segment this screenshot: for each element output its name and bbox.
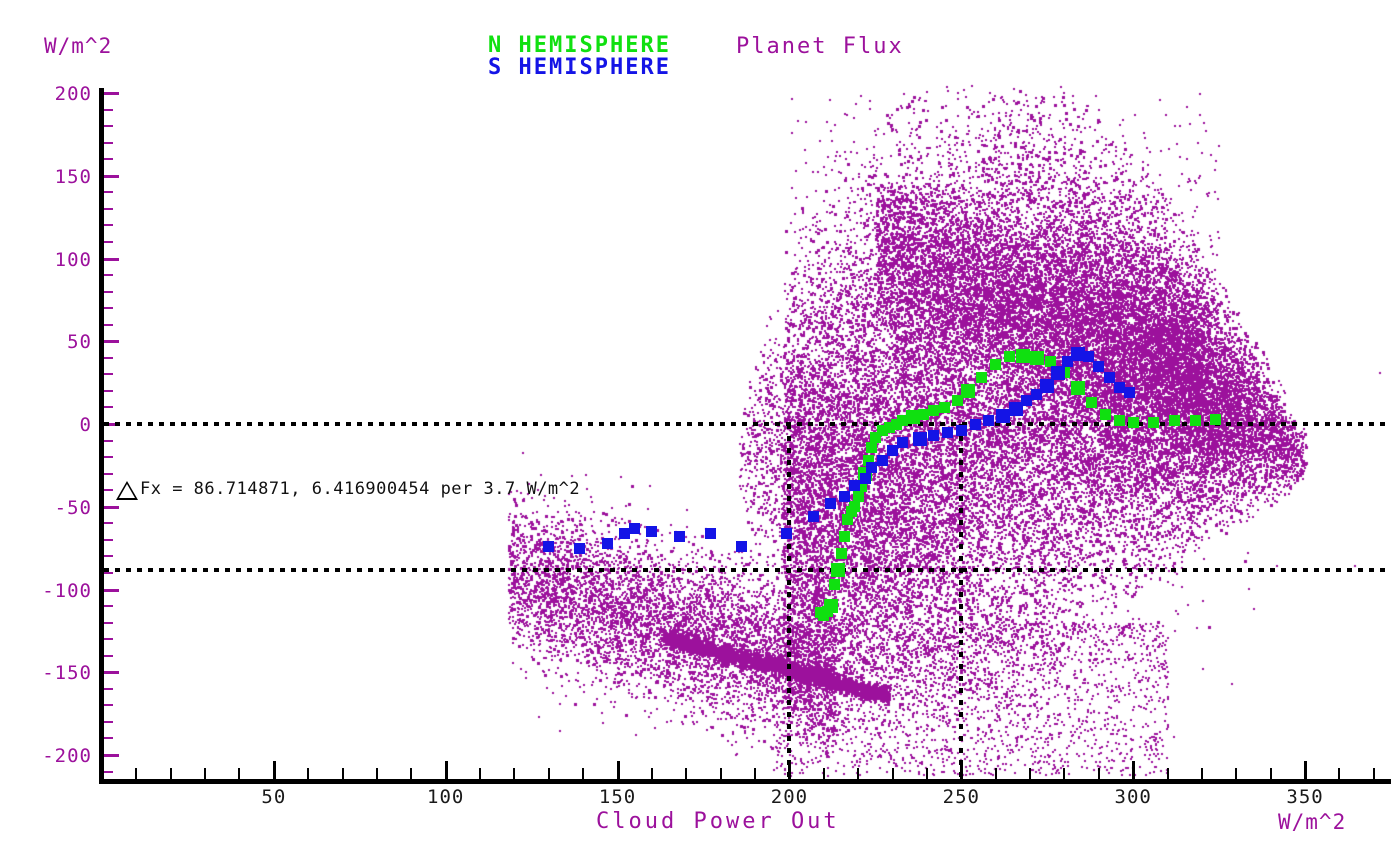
x-tick (1201, 768, 1203, 779)
x-tick (1270, 768, 1272, 779)
data-point-n-hemisphere (831, 563, 845, 577)
x-tick (685, 768, 687, 779)
y-tick (104, 638, 113, 640)
data-point-n-hemisphere (1071, 381, 1085, 395)
data-point-s-hemisphere (674, 531, 685, 542)
plot-canvas: 200150100500-50-100-150-200 501001502002… (0, 0, 1400, 863)
x-tick (548, 768, 550, 779)
x-tick-label: 350 (1265, 786, 1345, 808)
x-tick (479, 768, 481, 779)
data-point-n-hemisphere (866, 442, 877, 453)
page-title: Planet Flux (736, 36, 904, 58)
x-tick (1338, 768, 1340, 779)
y-tick (104, 622, 113, 624)
data-point-n-hemisphere (824, 599, 838, 613)
y-tick-label: 200 (0, 83, 92, 105)
flux-annotation-text: Fx = 86.714871, 6.416900454 per 3.7 W/m^… (140, 481, 580, 498)
y-tick (104, 109, 113, 111)
y-tick (104, 771, 113, 773)
x-tick (273, 761, 276, 779)
y-tick (104, 589, 119, 592)
data-point-n-hemisphere (849, 501, 860, 512)
y-tick (104, 456, 113, 458)
data-point-s-hemisphere (736, 541, 747, 552)
y-tick (104, 390, 113, 392)
legend-s-hemisphere: S HEMISPHERE (488, 57, 671, 79)
y-tick (104, 406, 113, 408)
scatter-point-cloud (0, 0, 1400, 863)
x-tick (101, 768, 103, 779)
y-tick-label: 50 (0, 331, 92, 353)
data-point-s-hemisphere (543, 541, 554, 552)
x-tick (1373, 768, 1375, 779)
data-point-n-hemisphere (1004, 351, 1015, 362)
y-tick (104, 357, 113, 359)
x-tick (1098, 768, 1100, 779)
y-tick (104, 572, 113, 574)
data-point-s-hemisphere (1051, 366, 1065, 380)
data-point-n-hemisphere (1100, 409, 1111, 420)
x-tick-label: 300 (1093, 786, 1173, 808)
y-tick (104, 754, 119, 757)
data-point-n-hemisphere (829, 579, 840, 590)
x-axis-unit-label: W/m^2 (1278, 812, 1346, 833)
data-point-s-hemisphere (646, 526, 657, 537)
x-tick (170, 768, 172, 779)
x-tick (720, 768, 722, 779)
x-tick (857, 768, 859, 779)
data-point-s-hemisphere (956, 425, 967, 436)
x-tick-label: 100 (406, 786, 486, 808)
x-axis-title: Cloud Power Out (596, 811, 840, 833)
y-tick (104, 175, 119, 178)
y-tick (104, 191, 113, 193)
vertical-reference-line (959, 424, 963, 779)
legend-n-hemisphere: N HEMISPHERE (488, 35, 671, 57)
y-tick-label: -100 (0, 580, 92, 602)
data-point-n-hemisphere (1148, 417, 1159, 428)
x-tick (513, 768, 515, 779)
y-tick-label: -200 (0, 745, 92, 767)
y-tick (104, 241, 113, 243)
y-tick (104, 688, 113, 690)
x-tick (1063, 768, 1065, 779)
data-point-s-hemisphere (808, 511, 819, 522)
y-tick (104, 440, 113, 442)
y-tick-label: 0 (0, 414, 92, 436)
x-tick (582, 768, 584, 779)
data-point-s-hemisphere (1040, 379, 1054, 393)
x-tick (1029, 768, 1031, 779)
x-tick (307, 768, 309, 779)
vertical-reference-line (787, 424, 791, 779)
data-point-n-hemisphere (1169, 415, 1180, 426)
x-tick-label: 50 (234, 786, 314, 808)
data-point-n-hemisphere (961, 384, 975, 398)
data-point-s-hemisphere (781, 528, 792, 539)
y-tick (104, 506, 119, 509)
y-tick (104, 671, 119, 674)
data-point-s-hemisphere (574, 543, 585, 554)
data-point-s-hemisphere (983, 415, 994, 426)
data-point-n-hemisphere (1030, 351, 1044, 365)
data-point-s-hemisphere (928, 430, 939, 441)
y-tick (104, 605, 113, 607)
data-point-n-hemisphere (1114, 415, 1125, 426)
y-tick (104, 307, 113, 309)
data-point-s-hemisphere (897, 437, 908, 448)
data-point-n-hemisphere (836, 548, 847, 559)
data-point-s-hemisphere (942, 427, 953, 438)
x-tick (892, 768, 894, 779)
y-tick-label: -50 (0, 497, 92, 519)
y-tick (104, 655, 113, 657)
y-tick (104, 92, 119, 95)
y-tick (104, 258, 119, 261)
x-tick-label: 250 (921, 786, 1001, 808)
data-point-s-hemisphere (825, 498, 836, 509)
data-point-s-hemisphere (913, 432, 927, 446)
x-tick (1235, 768, 1237, 779)
data-point-s-hemisphere (839, 491, 850, 502)
data-point-s-hemisphere (877, 455, 888, 466)
data-point-n-hemisphere (1016, 349, 1030, 363)
y-tick (104, 704, 113, 706)
y-tick-label: -150 (0, 662, 92, 684)
data-point-s-hemisphere (602, 538, 613, 549)
data-point-s-hemisphere (860, 473, 871, 484)
y-tick-label: 150 (0, 166, 92, 188)
data-point-s-hemisphere (1124, 387, 1135, 398)
data-point-s-hemisphere (705, 528, 716, 539)
data-point-s-hemisphere (970, 419, 981, 430)
y-tick (104, 373, 113, 375)
x-tick (823, 768, 825, 779)
x-tick (651, 768, 653, 779)
data-point-n-hemisphere (939, 402, 950, 413)
y-tick (104, 224, 113, 226)
y-tick (104, 489, 113, 491)
data-point-n-hemisphere (1128, 417, 1139, 428)
y-tick-label: 100 (0, 249, 92, 271)
y-tick (104, 208, 113, 210)
x-tick (238, 768, 240, 779)
horizontal-reference-line (104, 568, 1391, 572)
data-point-n-hemisphere (1086, 397, 1097, 408)
x-tick (1304, 761, 1307, 779)
x-tick (754, 768, 756, 779)
x-tick (995, 768, 997, 779)
y-tick (104, 522, 113, 524)
y-tick (104, 473, 113, 475)
y-tick (104, 158, 113, 160)
y-tick (104, 125, 113, 127)
y-tick (104, 291, 113, 293)
x-tick-label: 150 (578, 786, 658, 808)
x-axis-line (99, 779, 1391, 784)
x-tick (1132, 761, 1135, 779)
x-tick (617, 761, 620, 779)
delta-triangle-icon (116, 481, 138, 500)
x-tick-label: 200 (749, 786, 829, 808)
data-point-n-hemisphere (1190, 415, 1201, 426)
y-tick (104, 340, 119, 343)
y-tick (104, 539, 113, 541)
y-tick (104, 324, 113, 326)
y-tick (104, 274, 113, 276)
data-point-s-hemisphere (1093, 361, 1104, 372)
data-point-n-hemisphere (990, 359, 1001, 370)
data-point-s-hemisphere (996, 409, 1010, 423)
data-point-n-hemisphere (1210, 414, 1221, 425)
x-tick (926, 768, 928, 779)
y-tick (104, 555, 113, 557)
y-tick (104, 737, 113, 739)
data-point-s-hemisphere (629, 523, 640, 534)
x-tick (135, 768, 137, 779)
x-tick (1167, 768, 1169, 779)
data-point-n-hemisphere (839, 531, 850, 542)
x-tick (445, 761, 448, 779)
y-axis-unit-label: W/m^2 (44, 36, 112, 57)
y-tick (104, 721, 113, 723)
x-tick (376, 768, 378, 779)
data-point-n-hemisphere (853, 491, 864, 502)
data-point-n-hemisphere (976, 372, 987, 383)
y-tick (104, 142, 113, 144)
x-tick (204, 768, 206, 779)
x-tick (342, 768, 344, 779)
x-tick (410, 768, 412, 779)
